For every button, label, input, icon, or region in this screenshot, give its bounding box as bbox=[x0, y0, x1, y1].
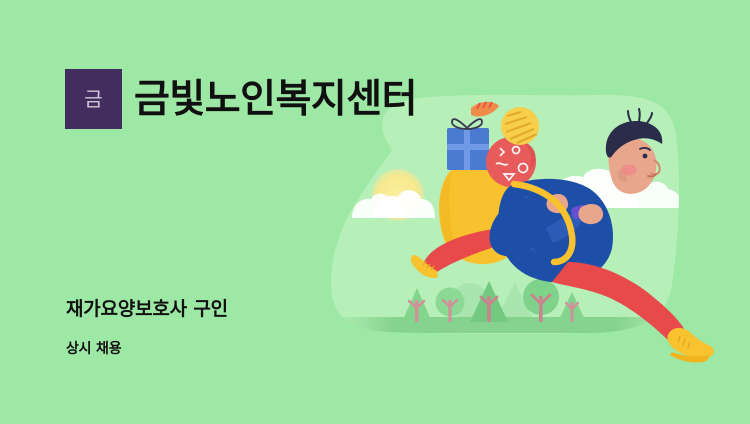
brand-logo-letter: 금 bbox=[84, 89, 102, 109]
brand-row: 금 금빛노인복지센터 bbox=[65, 68, 417, 130]
cheek-blush bbox=[622, 165, 637, 176]
job-position-title: 재가요양보호사 구인 bbox=[66, 298, 228, 321]
poster-canvas: 금 금빛노인복지센터 재가요양보호사 구인 상시 채용 bbox=[0, 0, 750, 424]
gift-ball-red bbox=[486, 137, 536, 187]
job-status-label: 상시 채용 bbox=[66, 341, 121, 358]
page-title: 금빛노인복지센터 bbox=[134, 80, 417, 119]
illustration bbox=[0, 0, 750, 424]
gift-ball-yellow bbox=[501, 107, 539, 145]
brand-logo-mark: 금 bbox=[65, 69, 122, 129]
